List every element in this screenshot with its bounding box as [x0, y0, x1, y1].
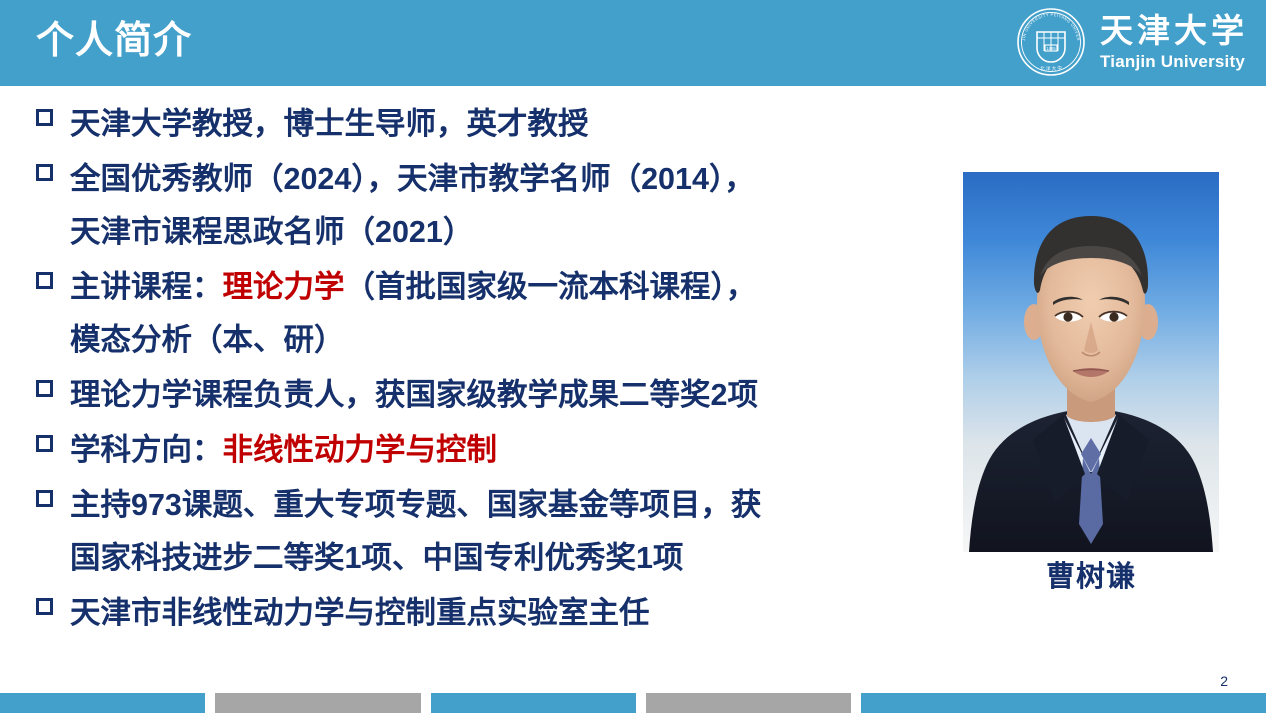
footer-segment	[215, 693, 420, 713]
list-item: 理论力学课程负责人，获国家级教学成果二等奖2项	[36, 369, 956, 422]
square-bullet-icon	[36, 153, 70, 181]
square-bullet-icon	[36, 424, 70, 452]
square-bullet-icon	[36, 479, 70, 507]
list-item-text: 学科方向：非线性动力学与控制	[70, 424, 956, 477]
list-item: 主讲课程：理论力学（首批国家级一流本科课程）， 模态分析（本、研）	[36, 261, 956, 367]
footer-decoration-bar	[0, 693, 1266, 713]
university-logo: 1895 北 洋 大 学 TIANJIN UNIVERSITY PEIYANG …	[1016, 7, 1248, 77]
list-item-text: 理论力学课程负责人，获国家级教学成果二等奖2项	[70, 369, 956, 422]
highlighted-research-field: 非线性动力学与控制	[223, 433, 498, 467]
university-name-en: Tianjin University	[1100, 52, 1245, 71]
square-bullet-icon	[36, 587, 70, 615]
footer-segment	[861, 693, 1266, 713]
list-item: 天津市非线性动力学与控制重点实验室主任	[36, 587, 956, 640]
page-number: 2	[1220, 672, 1228, 690]
university-seal-icon: 1895 北 洋 大 学 TIANJIN UNIVERSITY PEIYANG …	[1016, 7, 1086, 77]
bullet-list: 天津大学教授，博士生导师，英才教授 全国优秀教师（2024），天津市教学名师（2…	[36, 98, 956, 642]
page-title: 个人简介	[36, 14, 192, 68]
highlighted-course-name: 理论力学	[223, 270, 345, 304]
university-logo-text: 天津大学 Tianjin University	[1100, 13, 1248, 71]
square-bullet-icon	[36, 369, 70, 397]
list-item: 全国优秀教师（2024），天津市教学名师（2014）， 天津市课程思政名师（20…	[36, 153, 956, 259]
svg-text:北 洋 大 学: 北 洋 大 学	[1040, 65, 1062, 72]
footer-segment	[646, 693, 851, 713]
portrait-caption: 曹树谦	[963, 558, 1219, 596]
footer-segment	[431, 693, 636, 713]
list-item: 学科方向：非线性动力学与控制	[36, 424, 956, 477]
square-bullet-icon	[36, 261, 70, 289]
list-item-text: 主持973课题、重大专项专题、国家基金等项目，获 国家科技进步二等奖1项、中国专…	[70, 479, 956, 585]
list-item: 天津大学教授，博士生导师，英才教授	[36, 98, 956, 151]
footer-segment	[0, 693, 205, 713]
square-bullet-icon	[36, 98, 70, 126]
list-item-text: 天津大学教授，博士生导师，英才教授	[70, 98, 956, 151]
svg-text:TIANJIN UNIVERSITY PEIYANG UNI: TIANJIN UNIVERSITY PEIYANG UNIVERSITY	[1016, 7, 1081, 41]
list-item-text: 主讲课程：理论力学（首批国家级一流本科课程）， 模态分析（本、研）	[70, 261, 956, 367]
portrait-photo	[963, 172, 1219, 552]
list-item-text: 全国优秀教师（2024），天津市教学名师（2014）， 天津市课程思政名师（20…	[70, 153, 956, 259]
university-name-cn: 天津大学	[1100, 13, 1248, 51]
list-item-text: 天津市非线性动力学与控制重点实验室主任	[70, 587, 956, 640]
slide-canvas: 个人简介 1895 北 洋 大 学 TIANJIN UNIVERSITY PEI…	[0, 0, 1266, 713]
list-item: 主持973课题、重大专项专题、国家基金等项目，获 国家科技进步二等奖1项、中国专…	[36, 479, 956, 585]
svg-text:1895: 1895	[1046, 46, 1056, 51]
